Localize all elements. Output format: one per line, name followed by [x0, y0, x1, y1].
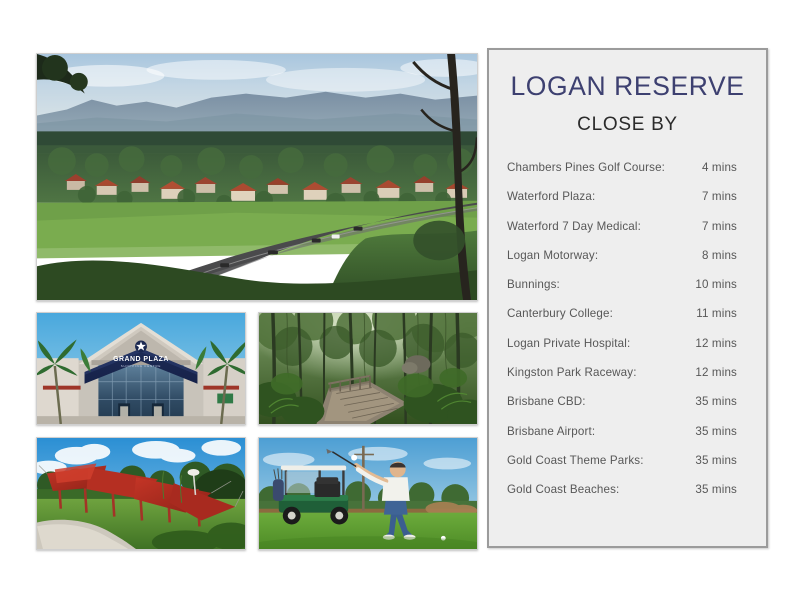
list-item-time: 7 mins [702, 190, 750, 203]
brochure-page: GRAND PLAZA SHOPPING CENTRE [0, 0, 800, 600]
list-item-label: Bunnings: [507, 278, 560, 291]
list-item-label: Kingston Park Raceway: [507, 366, 637, 379]
forest-boardwalk-image [259, 313, 477, 424]
list-item: Kingston Park Raceway: 12 mins [507, 366, 750, 395]
list-item-label: Chambers Pines Golf Course: [507, 161, 665, 174]
list-item-time: 12 mins [695, 366, 750, 379]
grand-plaza-photo: GRAND PLAZA SHOPPING CENTRE [36, 312, 246, 425]
list-item-time: 7 mins [702, 220, 750, 233]
aerial-suburb-image [37, 54, 477, 300]
list-item-time: 11 mins [696, 307, 750, 320]
close-by-info-panel: LOGAN RESERVE CLOSE BY Chambers Pines Go… [487, 48, 768, 548]
list-item: Waterford Plaza: 7 mins [507, 190, 750, 219]
list-item-time: 4 mins [702, 161, 750, 174]
list-item-time: 12 mins [695, 337, 750, 350]
list-item-time: 35 mins [695, 425, 750, 438]
list-item: Brisbane CBD: 35 mins [507, 395, 750, 424]
forest-boardwalk-photo [258, 312, 478, 425]
list-item: Logan Private Hospital: 12 mins [507, 337, 750, 366]
page-title: LOGAN RESERVE [489, 71, 766, 102]
list-item-time: 35 mins [695, 454, 750, 467]
svg-text:SHOPPING CENTRE: SHOPPING CENTRE [121, 364, 161, 368]
list-item-time: 10 mins [695, 278, 750, 291]
golfer-image [259, 438, 477, 549]
list-item-time: 8 mins [702, 249, 750, 262]
list-item: Gold Coast Beaches: 35 mins [507, 483, 750, 512]
list-item-label: Logan Private Hospital: [507, 337, 630, 350]
list-item: Logan Motorway: 8 mins [507, 249, 750, 278]
list-item-label: Waterford 7 Day Medical: [507, 220, 641, 233]
list-item-label: Gold Coast Beaches: [507, 483, 619, 496]
list-item-time: 35 mins [695, 395, 750, 408]
list-item: Bunnings: 10 mins [507, 278, 750, 307]
list-item-label: Logan Motorway: [507, 249, 598, 262]
list-item: Brisbane Airport: 35 mins [507, 425, 750, 454]
list-item: Waterford 7 Day Medical: 7 mins [507, 220, 750, 249]
aerial-suburb-photo [36, 53, 478, 301]
park-shade-sails-photo [36, 437, 246, 550]
list-item-label: Canterbury College: [507, 307, 613, 320]
list-item-time: 35 mins [695, 483, 750, 496]
list-item-label: Waterford Plaza: [507, 190, 595, 203]
close-by-list: Chambers Pines Golf Course: 4 mins Water… [489, 161, 766, 513]
list-item-label: Gold Coast Theme Parks: [507, 454, 644, 467]
list-item: Gold Coast Theme Parks: 35 mins [507, 454, 750, 483]
grand-plaza-image: GRAND PLAZA SHOPPING CENTRE [37, 313, 245, 424]
list-item-label: Brisbane CBD: [507, 395, 586, 408]
list-item-label: Brisbane Airport: [507, 425, 595, 438]
golfer-photo [258, 437, 478, 550]
park-shade-sails-image [37, 438, 245, 549]
svg-text:GRAND PLAZA: GRAND PLAZA [113, 356, 169, 363]
panel-subtitle: CLOSE BY [489, 114, 766, 136]
list-item: Chambers Pines Golf Course: 4 mins [507, 161, 750, 190]
list-item: Canterbury College: 11 mins [507, 307, 750, 336]
